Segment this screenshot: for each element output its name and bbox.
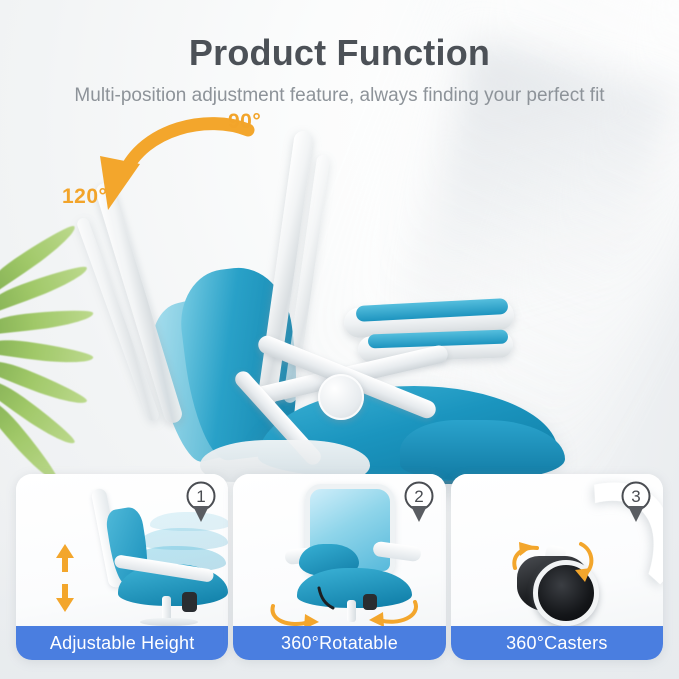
number-pin-2-icon: 2 xyxy=(402,480,436,524)
angle-label-90: 90° xyxy=(228,110,261,134)
page-subtitle: Multi-position adjustment feature, alway… xyxy=(0,85,679,107)
rotation-arrows-icon xyxy=(259,586,429,626)
panel-3-artwork: 3 xyxy=(451,474,663,626)
panel-1-artwork: 1 xyxy=(16,474,228,626)
page-title: Product Function xyxy=(0,32,679,74)
pin-number-3: 3 xyxy=(631,487,640,506)
panel-3-label: 360°Casters xyxy=(451,626,663,660)
panel-2-label: 360°Rotatable xyxy=(233,626,445,660)
number-pin-3-icon: 3 xyxy=(619,480,653,524)
number-pin-1-icon: 1 xyxy=(184,480,218,524)
panel-1-label: Adjustable Height xyxy=(16,626,228,660)
product-function-infographic: Product Function Multi-position adjustme… xyxy=(0,0,679,679)
up-down-arrows-icon xyxy=(54,542,76,614)
feature-panel-list: 1 Adjust xyxy=(16,474,663,660)
chair-base xyxy=(140,618,198,626)
feature-panel-casters[interactable]: 3 360°Casters xyxy=(451,474,663,660)
spin-arrows-icon xyxy=(493,534,613,586)
panel-2-artwork: 2 xyxy=(233,474,445,626)
feature-panel-adjustable-height[interactable]: 1 Adjust xyxy=(16,474,228,660)
chair-tilt-hub xyxy=(318,374,364,420)
angle-label-120: 120° xyxy=(62,185,107,209)
chair-height-lever xyxy=(182,592,197,612)
pin-number-2: 2 xyxy=(414,487,423,506)
feature-panel-rotatable[interactable]: 2 360°Ro xyxy=(233,474,445,660)
pin-number-1: 1 xyxy=(197,487,206,506)
